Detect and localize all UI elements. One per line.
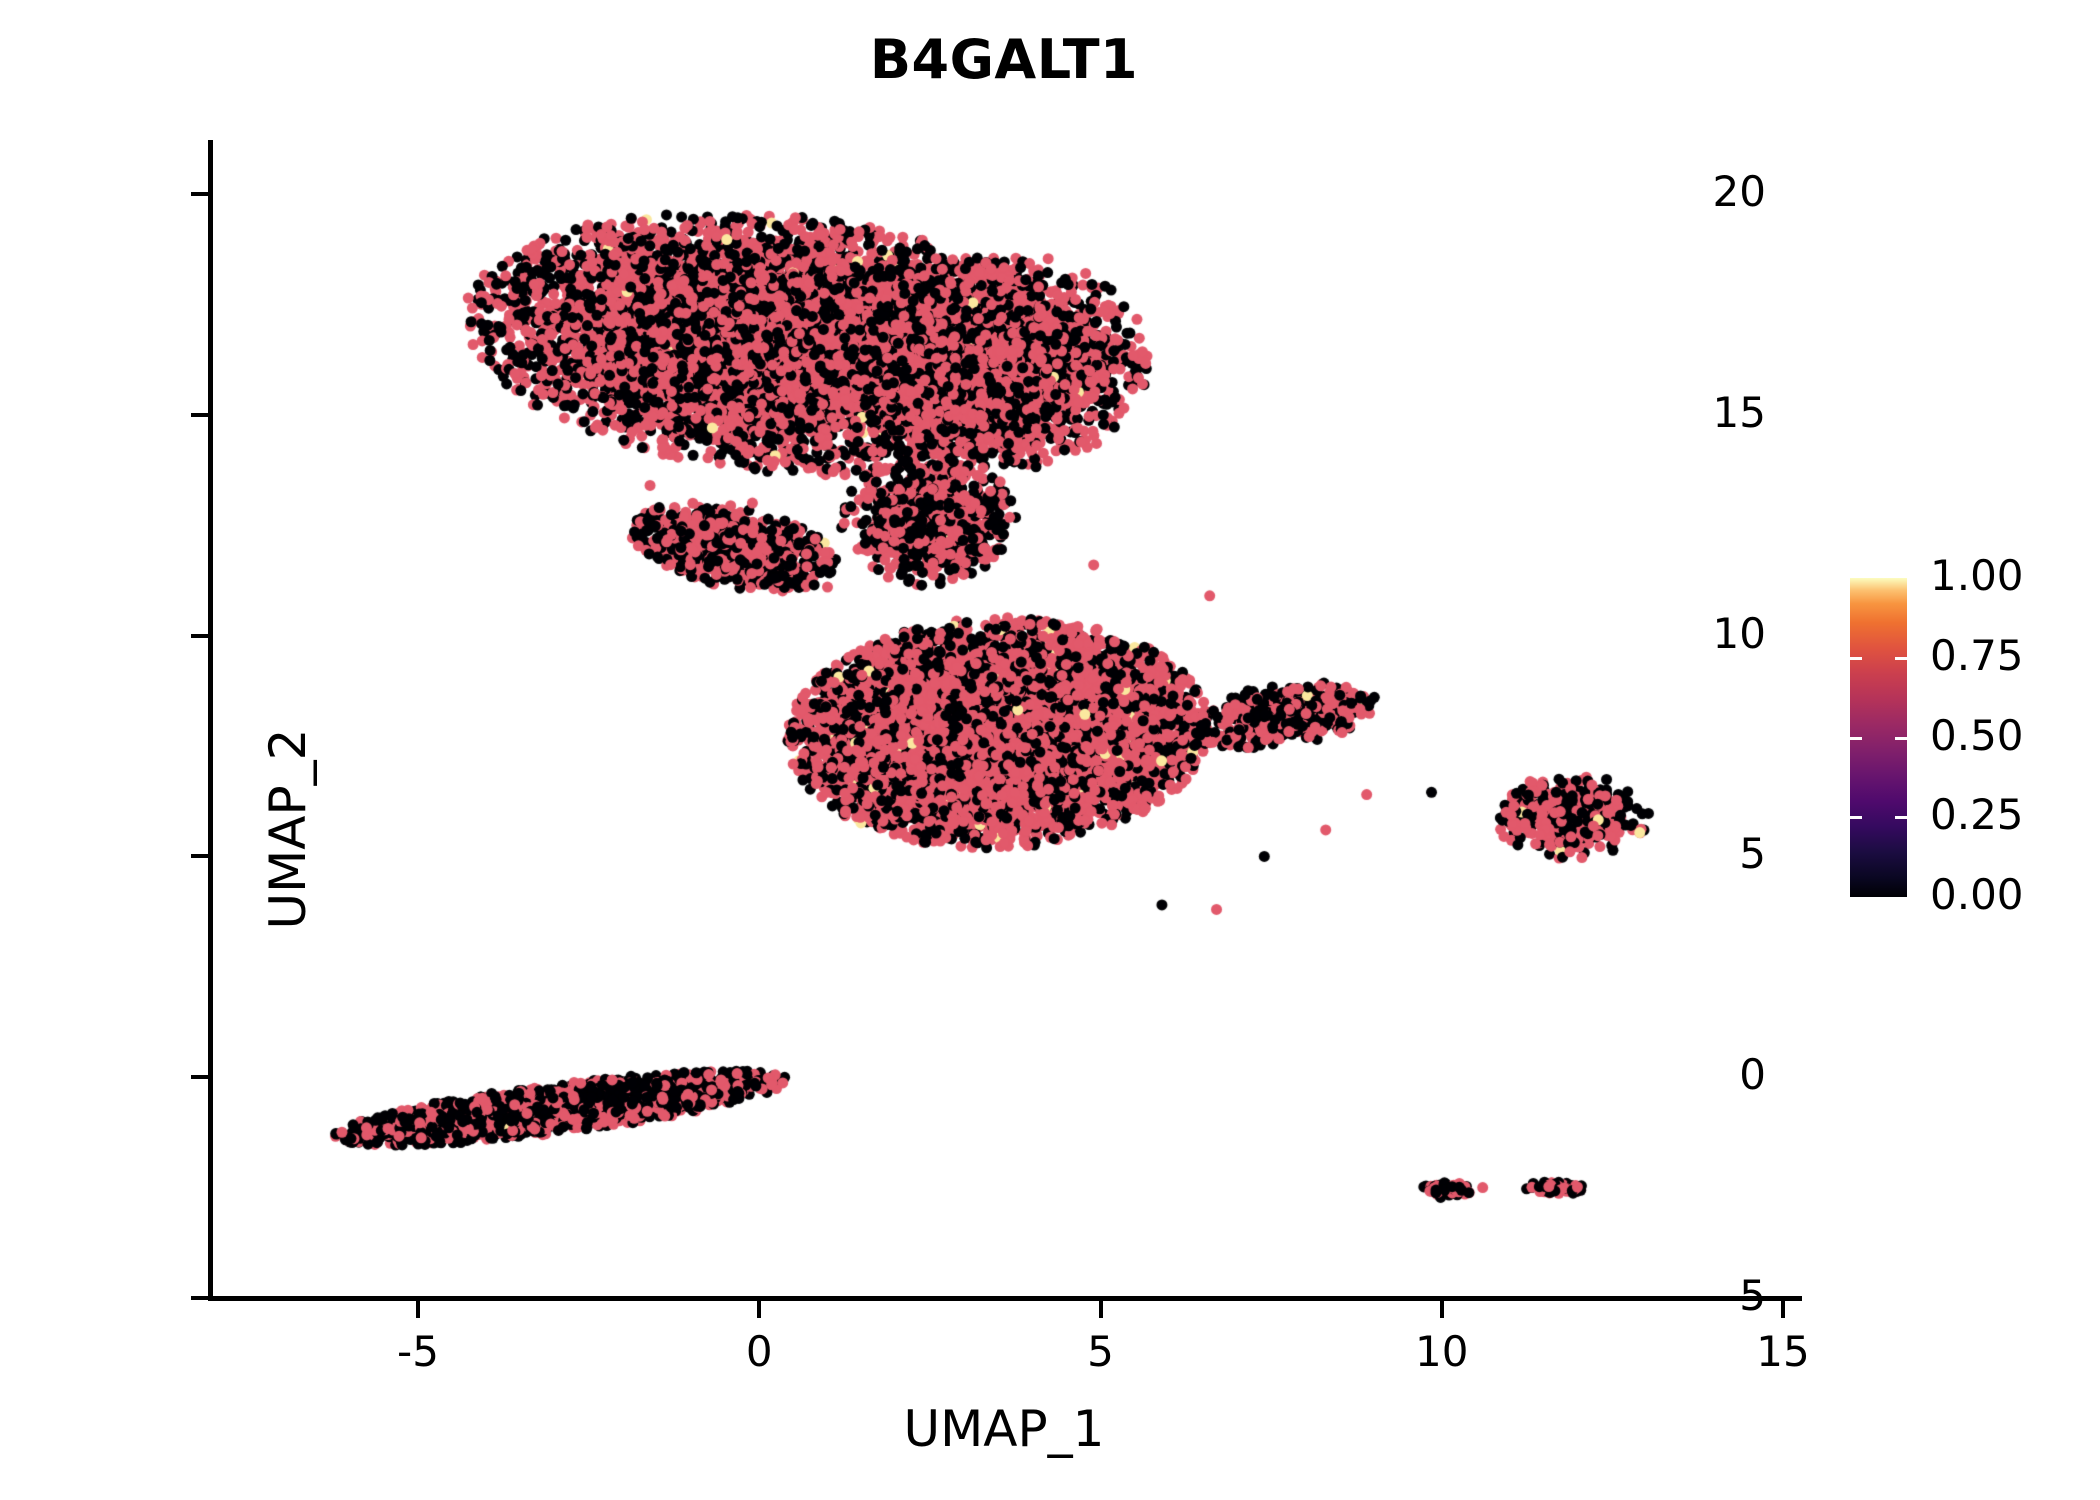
y-tick-mark (191, 634, 208, 638)
y-tick-label: 10 (1606, 609, 1766, 658)
x-tick-mark (757, 1301, 761, 1318)
y-tick-label: 5 (1606, 829, 1766, 878)
colorbar-tick-mark (1850, 816, 1862, 819)
x-tick-label: 5 (1021, 1327, 1181, 1376)
colorbar-tick-label: 1.00 (1930, 551, 2024, 600)
y-tick-mark (191, 413, 208, 417)
plot-axes: 20151050-5 -5051015 UMAP_2 (208, 140, 1800, 1298)
page-title: B4GALT1 (208, 28, 1800, 91)
colorbar-tick-mark (1850, 657, 1862, 660)
y-tick-mark (191, 854, 208, 858)
colorbar[interactable]: 1.000.750.500.250.00 (1850, 578, 2090, 898)
y-tick-label: 20 (1606, 167, 1766, 216)
colorbar-tick-mark (1850, 737, 1862, 740)
colorbar-tick-mark (1895, 657, 1907, 660)
colorbar-tick-mark (1895, 737, 1907, 740)
y-tick-mark (191, 1296, 208, 1300)
x-tick-mark (1440, 1301, 1444, 1318)
x-tick-mark (1099, 1301, 1103, 1318)
colorbar-tick-label: 0.00 (1930, 870, 2024, 919)
figure-canvas: B4GALT1 20151050-5 -5051015 UMAP_2 UMAP_… (0, 0, 2100, 1500)
x-tick-label: 10 (1362, 1327, 1522, 1376)
colorbar-tick-label: 0.75 (1930, 631, 2024, 680)
y-axis-label: UMAP_2 (259, 529, 317, 1129)
colorbar-tick-label: 0.50 (1930, 711, 2024, 760)
x-axis-spine (208, 1296, 1802, 1301)
x-tick-label: 0 (679, 1327, 839, 1376)
y-tick-mark (191, 192, 208, 196)
y-tick-mark (191, 1075, 208, 1079)
x-tick-label: 15 (1703, 1327, 1863, 1376)
y-tick-label: -5 (1606, 1271, 1766, 1320)
colorbar-tick-label: 0.25 (1930, 790, 2024, 839)
x-tick-mark (416, 1301, 420, 1318)
colorbar-tick-mark (1895, 816, 1907, 819)
y-tick-label: 15 (1606, 388, 1766, 437)
y-tick-label: 0 (1606, 1050, 1766, 1099)
x-axis-label: UMAP_1 (208, 1400, 1800, 1458)
x-tick-mark (1781, 1301, 1785, 1318)
x-tick-label: -5 (338, 1327, 498, 1376)
y-axis-spine (208, 140, 213, 1301)
